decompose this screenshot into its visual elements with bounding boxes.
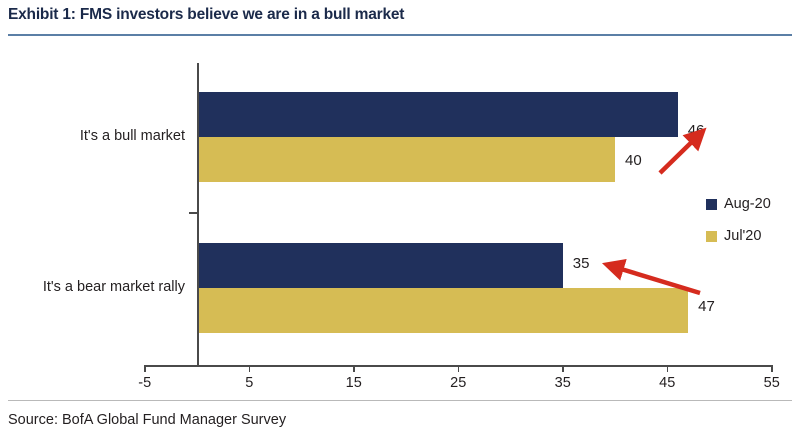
bar-jul20[interactable] (199, 288, 688, 333)
legend-swatch-jul-icon (706, 231, 717, 242)
x-axis-tick-label: 55 (764, 375, 780, 391)
bar-aug20[interactable] (199, 92, 678, 137)
bar-value-label: 46 (688, 122, 705, 139)
category-label: It's a bull market (80, 128, 185, 144)
x-axis-tick-label: -5 (138, 375, 151, 391)
bar-chart: -551525354555 46403547 It's a bull marke… (0, 40, 800, 395)
bar-value-label: 35 (573, 255, 590, 272)
x-axis-tick-label: 35 (555, 375, 571, 391)
bar-value-label: 40 (625, 152, 642, 169)
page-title: Exhibit 1: FMS investors believe we are … (8, 6, 404, 24)
x-axis-tick-label: 15 (346, 375, 362, 391)
chart-legend: Aug-20 Jul'20 (706, 188, 771, 252)
bar-value-label: 47 (698, 298, 715, 315)
x-axis-tick-label: 5 (245, 375, 253, 391)
bar-jul20[interactable] (199, 137, 615, 182)
legend-label-jul: Jul'20 (724, 228, 761, 244)
x-axis-tick (144, 365, 146, 372)
bar-aug20[interactable] (199, 243, 563, 288)
source-divider (8, 400, 792, 401)
x-axis-tick (771, 365, 773, 372)
x-axis-tick (562, 365, 564, 372)
x-axis-line (145, 365, 773, 367)
title-divider (8, 34, 792, 36)
legend-item-jul[interactable]: Jul'20 (706, 220, 771, 252)
category-label: It's a bear market rally (43, 279, 185, 295)
x-axis-tick (458, 365, 460, 372)
legend-item-aug[interactable]: Aug-20 (706, 188, 771, 220)
category-axis-tick (189, 212, 198, 214)
legend-label-aug: Aug-20 (724, 196, 771, 212)
x-axis-tick-label: 45 (659, 375, 675, 391)
legend-swatch-aug-icon (706, 199, 717, 210)
x-axis-tick (667, 365, 669, 372)
x-axis-tick-label: 25 (450, 375, 466, 391)
x-axis-tick (353, 365, 355, 372)
source-note: Source: BofA Global Fund Manager Survey (8, 412, 286, 428)
x-axis-tick (249, 365, 251, 372)
